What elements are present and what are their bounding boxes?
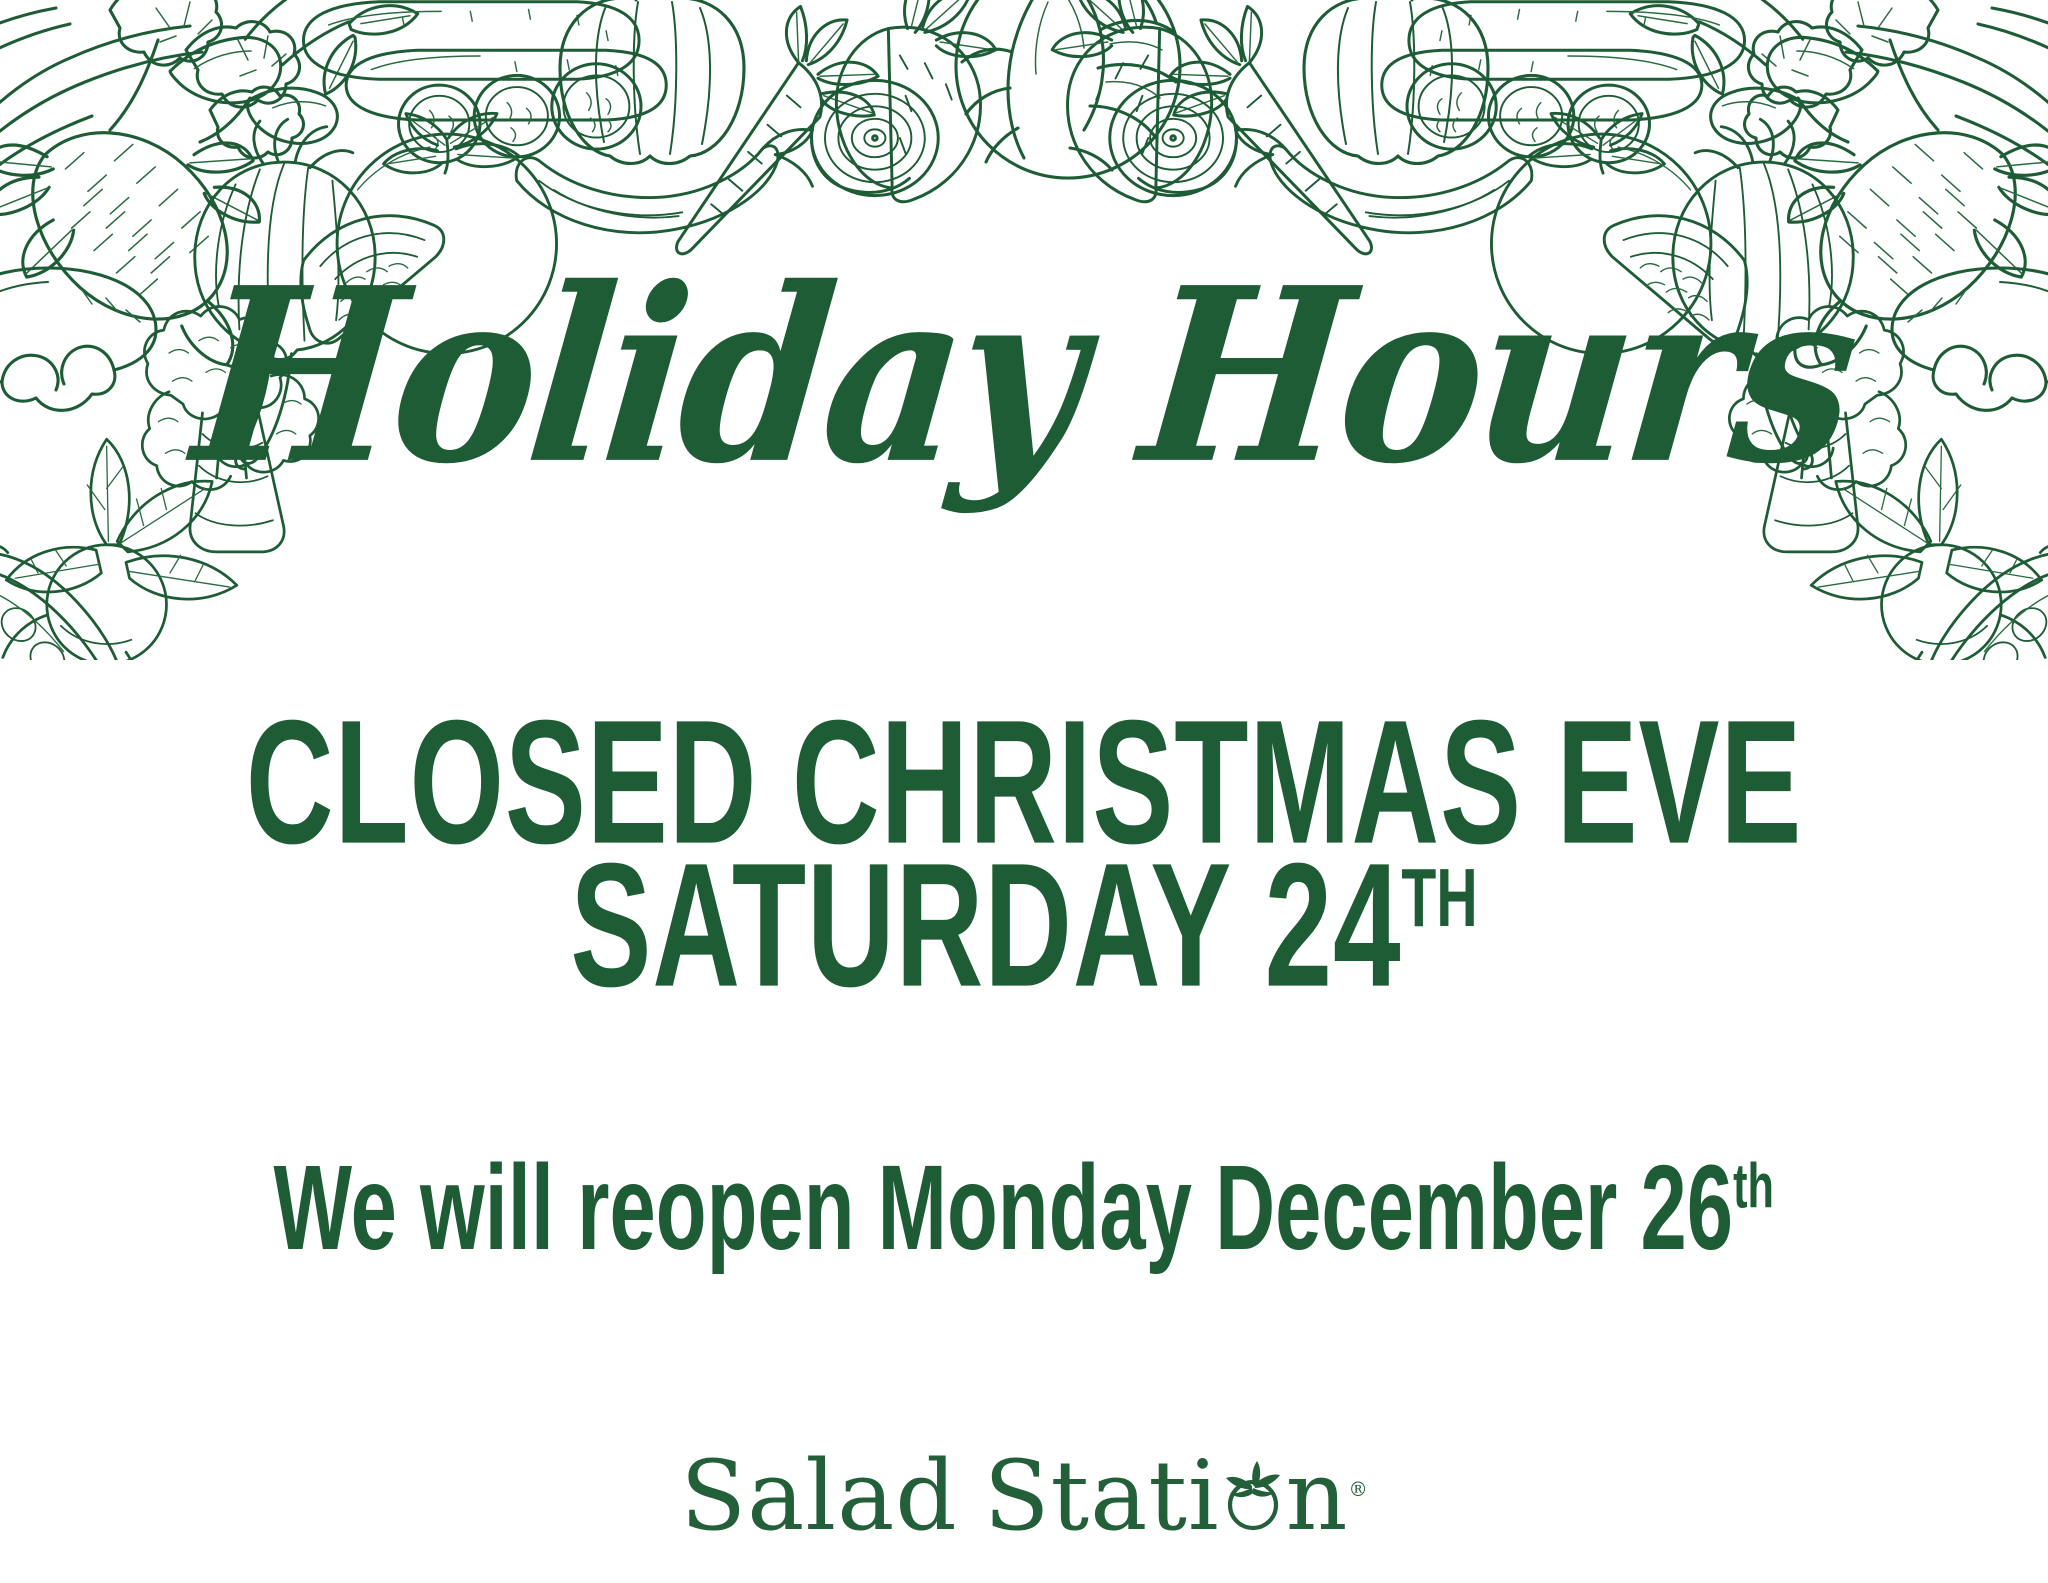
border-peapod-right — [1922, 520, 2048, 660]
border-celery-left — [0, 0, 303, 172]
border-olives-right — [1630, 0, 1878, 143]
logo-word-station-part1: Stati — [984, 1440, 1220, 1552]
tomato-icon — [1220, 1469, 1286, 1535]
border-olives-left — [170, 0, 418, 143]
headline-line-saturday-date: SATURDAY 24TH — [205, 843, 1843, 1009]
reopen-subtitle-ordinal: th — [1733, 1152, 1774, 1222]
reopen-subtitle: We will reopen Monday December 26th — [0, 1148, 2048, 1252]
border-beet-right — [1052, 0, 1236, 202]
logo-word-station-part2: n — [1286, 1440, 1349, 1552]
registered-trademark-mark: ® — [1348, 1478, 1367, 1501]
holiday-hours-script-title: Holiday Hours — [186, 255, 1862, 499]
reopen-subtitle-inner: We will reopen Monday December 26th — [274, 1148, 1774, 1269]
border-cucumber-left — [303, 2, 666, 163]
holiday-hours-poster: Holiday Hours CLOSED CHRISTMAS EVE SATUR… — [0, 0, 2048, 1583]
border-peapod-left — [0, 520, 126, 660]
border-carrot-right — [1170, 6, 1372, 253]
logo-inner: SaladStatin® — [680, 1448, 1367, 1544]
border-cabbage-left — [956, 0, 1180, 178]
border-bellpepper-right — [1304, 0, 1488, 163]
headline-date-main: SATURDAY 24 — [570, 827, 1401, 1024]
headline-block: CLOSED CHRISTMAS EVE SATURDAY 24TH — [0, 700, 2048, 986]
border-celery-right — [1745, 0, 2048, 172]
salad-station-logo: SaladStatin® — [0, 1448, 2048, 1544]
border-bellpepper-left — [560, 0, 744, 163]
logo-word-salad: Salad — [680, 1440, 957, 1552]
border-chili-right — [1236, 130, 1532, 233]
headline-date-ordinal: TH — [1401, 851, 1477, 944]
script-title-container: Holiday Hours — [0, 268, 2048, 486]
border-beet-left — [812, 0, 996, 202]
border-carrot-left — [677, 6, 879, 253]
border-cucumber-right — [1382, 2, 1745, 163]
reopen-subtitle-main: We will reopen Monday December 26 — [274, 1141, 1734, 1276]
border-chili-left — [516, 130, 812, 233]
